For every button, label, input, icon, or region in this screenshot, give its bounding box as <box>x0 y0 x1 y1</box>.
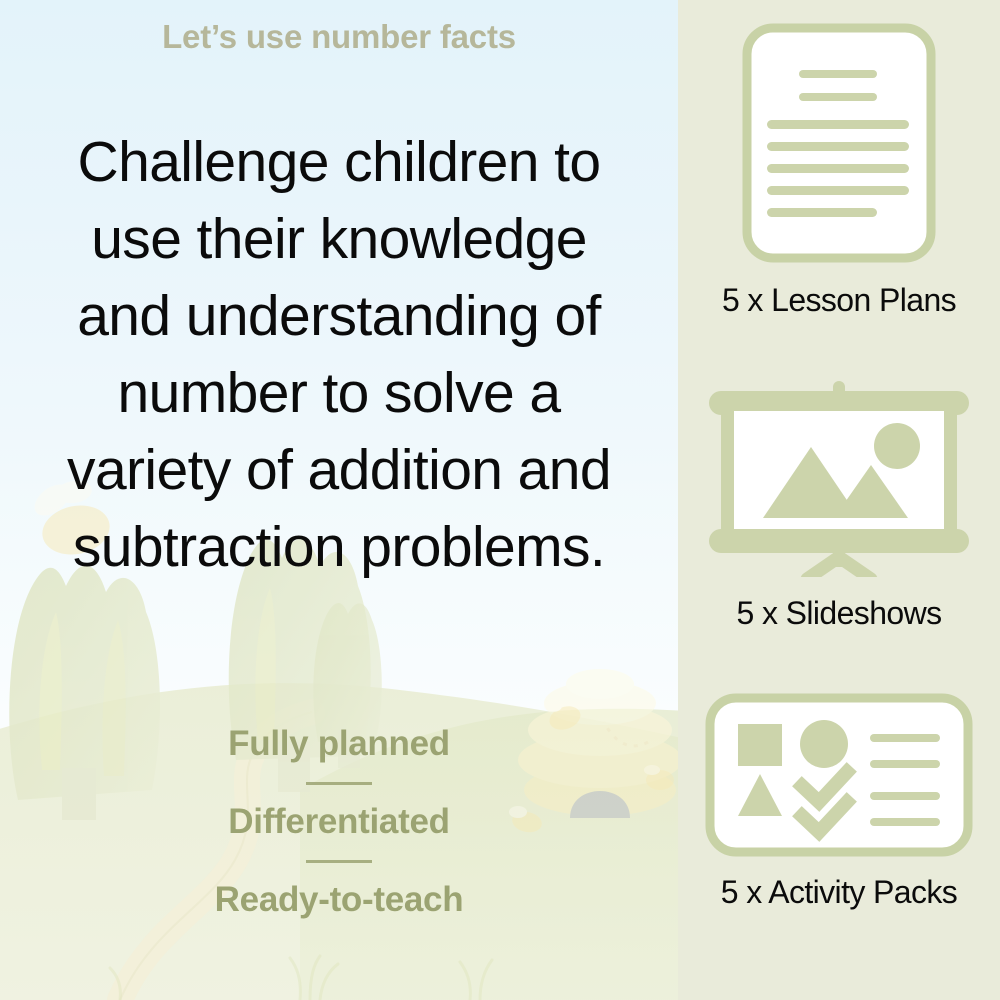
body-line-4: number to solve a <box>34 355 644 432</box>
features-panel: 5 x Lesson Plans <box>678 0 1000 1000</box>
body-line-2: use their knowledge <box>34 201 644 278</box>
body-copy: Challenge children to use their knowledg… <box>34 124 644 586</box>
eyebrow-heading: Let’s use number facts <box>0 18 678 56</box>
body-line-1: Challenge children to <box>34 124 644 201</box>
left-panel: Let’s use number facts Challenge childre… <box>0 0 678 1000</box>
feature-label-activity-packs: 5 x Activity Packs <box>721 874 957 911</box>
body-line-5: variety of addition and <box>34 432 644 509</box>
document-icon-wrap <box>741 22 937 264</box>
feature-label-lesson-plans: 5 x Lesson Plans <box>722 282 956 319</box>
tagline-item-3: Ready-to-teach <box>0 878 678 922</box>
tagline-divider-1 <box>306 782 372 785</box>
poster: Let’s use number facts Challenge childre… <box>0 0 1000 1000</box>
activity-card-icon-wrap <box>704 692 974 858</box>
tagline-item-1: Fully planned <box>0 722 678 766</box>
body-line-3: and understanding of <box>34 278 644 355</box>
tagline-divider-2 <box>306 860 372 863</box>
tagline-block: Fully planned Differentiated Ready-to-te… <box>0 722 678 922</box>
feature-label-slideshows: 5 x Slideshows <box>736 595 941 632</box>
grass-tufts <box>110 956 492 1000</box>
feature-lesson-plans: 5 x Lesson Plans <box>678 22 1000 319</box>
feature-slideshows: 5 x Slideshows <box>678 381 1000 632</box>
feature-activity-packs: 5 x Activity Packs <box>678 692 1000 911</box>
body-line-6: subtraction problems. <box>34 509 644 586</box>
document-icon <box>741 22 937 264</box>
projector-screen-icon-wrap <box>703 381 975 577</box>
tagline-item-2: Differentiated <box>0 800 678 844</box>
projector-screen-icon <box>703 381 975 577</box>
activity-card-icon <box>704 692 974 858</box>
